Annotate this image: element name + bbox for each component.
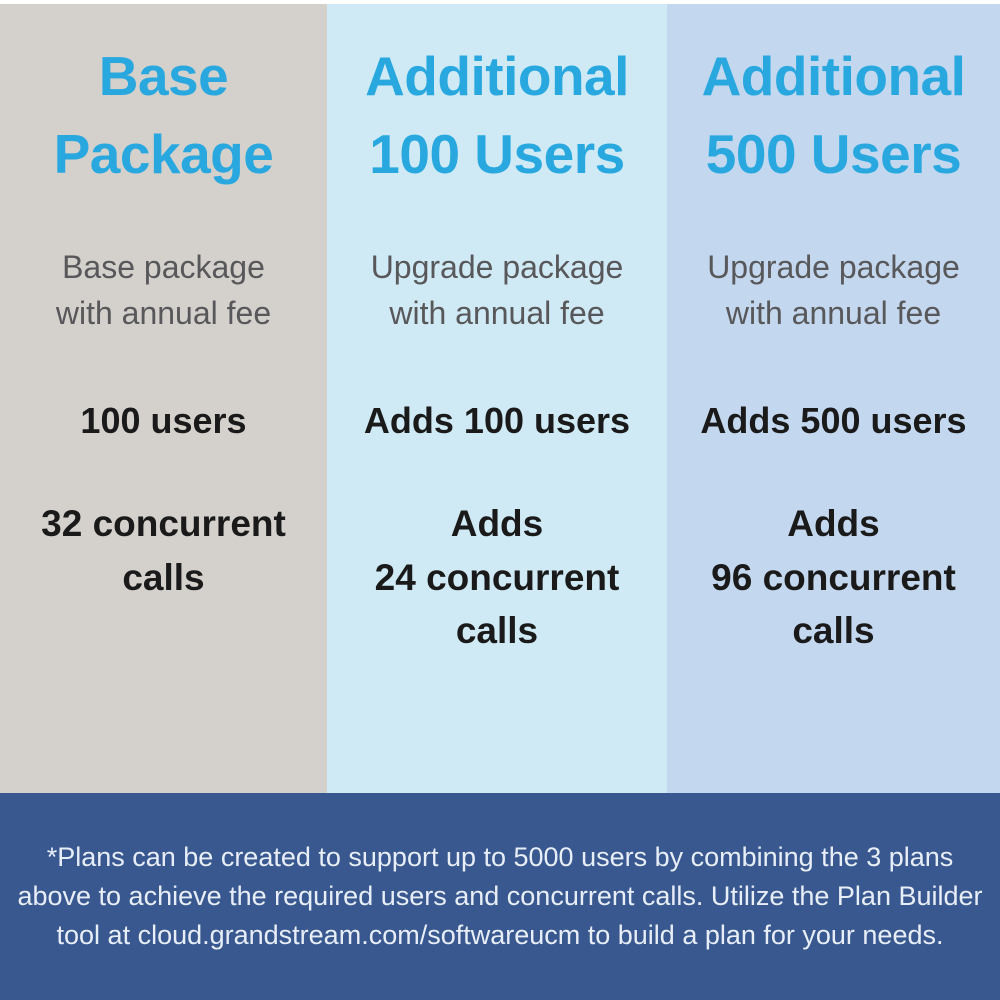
plan-column-additional-100-users: Additional 100 Users Upgrade package wit… <box>327 4 667 793</box>
plan-heading-additional-500-users: Additional 500 Users <box>702 37 966 193</box>
plan-users-additional-500-users: Adds 500 users <box>700 398 966 445</box>
plan-description-additional-100-users: Upgrade package with annual fee <box>371 245 624 336</box>
plan-concurrent-calls-additional-500-users: Adds 96 concurrent calls <box>711 497 956 658</box>
plan-heading-base-package: Base Package <box>54 37 274 193</box>
plan-concurrent-calls-base-package: 32 concurrent calls <box>41 497 286 604</box>
plan-users-base-package: 100 users <box>80 398 246 445</box>
plan-concurrent-calls-additional-100-users: Adds 24 concurrent calls <box>375 497 620 658</box>
plan-columns-row: Base Package Base package with annual fe… <box>0 4 1000 793</box>
footnote-line-3: tool at cloud.grandstream.com/softwareuc… <box>57 916 944 955</box>
footnote-banner: *Plans can be created to support up to 5… <box>0 793 1000 1000</box>
footnote-line-1: *Plans can be created to support up to 5… <box>47 838 954 877</box>
plan-column-base-package: Base Package Base package with annual fe… <box>0 4 327 793</box>
plan-heading-additional-100-users: Additional 100 Users <box>365 37 629 193</box>
plan-description-base-package: Base package with annual fee <box>56 245 271 336</box>
plan-column-additional-500-users: Additional 500 Users Upgrade package wit… <box>667 4 1000 793</box>
plan-description-additional-500-users: Upgrade package with annual fee <box>707 245 960 336</box>
plan-users-additional-100-users: Adds 100 users <box>364 398 630 445</box>
pricing-comparison-graphic: Base Package Base package with annual fe… <box>0 0 1000 1000</box>
footnote-line-2: above to achieve the required users and … <box>17 877 982 916</box>
